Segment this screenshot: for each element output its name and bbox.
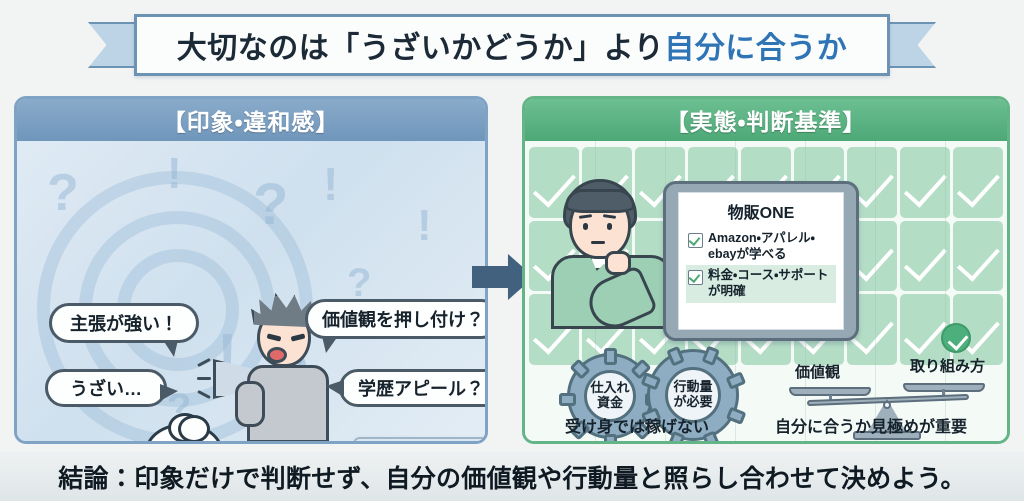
- scale-caption: 自分に合うか見極めが重要: [775, 413, 967, 437]
- tablet-screen: 物販ONE Amazon・アパレル・ebayが学べる 料金・コース・サポートが明…: [678, 192, 844, 330]
- right-panel: 【実態・判断基準】: [522, 96, 1010, 444]
- left-panel: 【印象・違和感】 ? ! ? ! ! ? ? ! ! ?: [14, 96, 488, 444]
- tablet-device: 物販ONE Amazon・アパレル・ebayが学べる 料金・コース・サポートが明…: [663, 181, 859, 341]
- banner-title-main: 大切なのは「うざいかどうか」より: [177, 32, 664, 65]
- tablet-checklist-item: 料金・コース・サポートが明確: [686, 265, 836, 302]
- scale-right-label: 取り組み方: [910, 355, 985, 376]
- conclusion-bar: 結論：印象だけで判断せず、自分の価値観や行動量と照らし合わせて決めよう。: [0, 452, 1024, 501]
- infographic-stage: 大切なのは「うざいかどうか」より自分に合うか 【印象・違和感】 ? ! ? ! …: [0, 0, 1024, 501]
- title-banner: 大切なのは「うざいかどうか」より自分に合うか: [88, 14, 936, 76]
- banner-title-accent: 自分に合うか: [664, 32, 847, 65]
- scale-left-label: 価値観: [795, 361, 840, 382]
- right-panel-body: 物販ONE Amazon・アパレル・ebayが学べる 料金・コース・サポートが明…: [525, 141, 1007, 444]
- thinking-person-illustration: [549, 179, 677, 329]
- speech-bubble-1: 主張が強い！: [49, 303, 199, 343]
- browser-window-mockup: 物販ONE: [353, 437, 488, 444]
- green-check-badge-icon: [941, 323, 971, 353]
- checkbox-checked-icon: [688, 270, 703, 285]
- gears-caption: 受け身では稼げない: [565, 413, 709, 437]
- tablet-item-label: Amazon・アパレル・ebayが学べる: [708, 231, 834, 262]
- tablet-item-label: 料金・コース・サポートが明確: [708, 268, 834, 299]
- checkbox-checked-icon: [688, 233, 703, 248]
- speech-bubble-4: 学歴アピール？: [339, 369, 488, 407]
- banner-box: 大切なのは「うざいかどうか」より自分に合うか: [134, 14, 890, 76]
- speech-bubble-2: うざい…: [45, 369, 167, 407]
- conclusion-text: 結論：印象だけで判断せず、自分の価値観や行動量と照らし合わせて決めよう。: [58, 459, 966, 495]
- speech-bubble-3: 価値観を押し付け？: [305, 299, 488, 339]
- left-panel-body: ? ! ? ! ! ? ? ! ! ?: [17, 141, 485, 444]
- tablet-title: 物販ONE: [686, 199, 836, 223]
- banner-title: 大切なのは「うざいかどうか」より自分に合うか: [177, 23, 847, 67]
- browser-titlebar: [355, 439, 488, 444]
- tablet-checklist-item: Amazon・アパレル・ebayが学べる: [686, 228, 836, 265]
- thought-question-text: ？: [169, 430, 199, 444]
- left-panel-header: 【印象・違和感】: [17, 99, 485, 141]
- right-panel-header: 【実態・判断基準】: [525, 99, 1007, 141]
